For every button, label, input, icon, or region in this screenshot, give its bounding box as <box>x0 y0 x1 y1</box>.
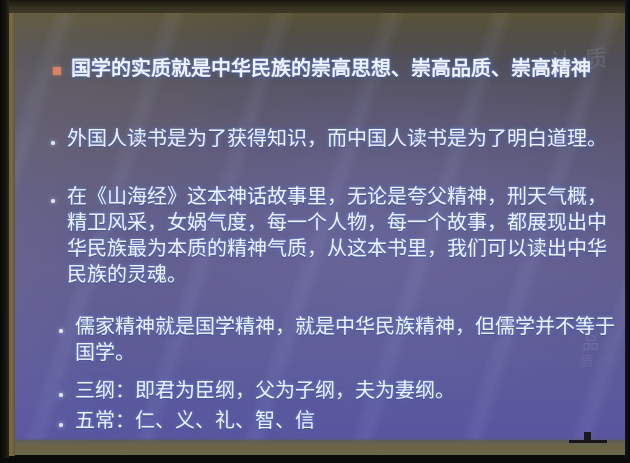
slide-content: 国学的实质就是中华民族的崇高思想、崇高品质、崇高精神 外国人读书是为了获得知识，… <box>13 11 625 455</box>
photo-edge-right <box>625 0 630 463</box>
bullet-dot-marker-icon <box>57 313 75 339</box>
slide-bullet-1: 国学的实质就是中华民族的崇高思想、崇高品质、崇高精神 <box>53 55 615 81</box>
equipment-silhouette <box>569 432 607 443</box>
projection-photo: 认 质 品 质 国学的实质就是中华民族的崇高思想、崇高品质、崇高精神 外国人读书… <box>0 0 630 463</box>
photo-edge-bottom <box>0 458 630 463</box>
slide-bullet-1-text: 国学的实质就是中华民族的崇高思想、崇高品质、崇高精神 <box>71 55 615 81</box>
slide-bullet-3-text: 在《山海经》这本神话故事里，无论是夸父精神，刑天气概，精卫风采，女娲气度，每一个… <box>67 183 621 287</box>
bullet-dot-marker-icon <box>57 377 75 403</box>
screen-frame-left-strip <box>8 10 15 456</box>
photo-edge-left <box>0 0 9 463</box>
projection-screen: 认 质 品 质 国学的实质就是中华民族的崇高思想、崇高品质、崇高精神 外国人读书… <box>13 11 625 455</box>
bullet-square-marker-icon <box>53 55 71 81</box>
slide-bullet-5: 三纲：即君为臣纲，父为子纲，夫为妻纲。 <box>57 377 617 403</box>
slide-bullet-2-text: 外国人读书是为了获得知识，而中国人读书是为了明白道理。 <box>67 125 615 151</box>
bullet-dot-marker-icon <box>49 183 67 209</box>
slide-bullet-6: 五常：仁、义、礼、智、信 <box>57 407 617 433</box>
slide-bullet-2: 外国人读书是为了获得知识，而中国人读书是为了明白道理。 <box>49 125 615 151</box>
slide-bullet-3: 在《山海经》这本神话故事里，无论是夸父精神，刑天气概，精卫风采，女娲气度，每一个… <box>49 183 621 287</box>
slide-bullet-5-text: 三纲：即君为臣纲，父为子纲，夫为妻纲。 <box>75 377 617 403</box>
slide-bullet-4: 儒家精神就是国学精神，就是中华民族精神，但儒学并不等于国学。 <box>57 313 617 365</box>
slide-bullet-6-text: 五常：仁、义、礼、智、信 <box>75 407 617 433</box>
photo-edge-top <box>0 0 630 13</box>
bullet-dot-marker-icon <box>57 407 75 433</box>
screen-bottom-band <box>13 440 625 455</box>
slide-bullet-4-text: 儒家精神就是国学精神，就是中华民族精神，但儒学并不等于国学。 <box>75 313 617 365</box>
bullet-dot-marker-icon <box>49 125 67 151</box>
